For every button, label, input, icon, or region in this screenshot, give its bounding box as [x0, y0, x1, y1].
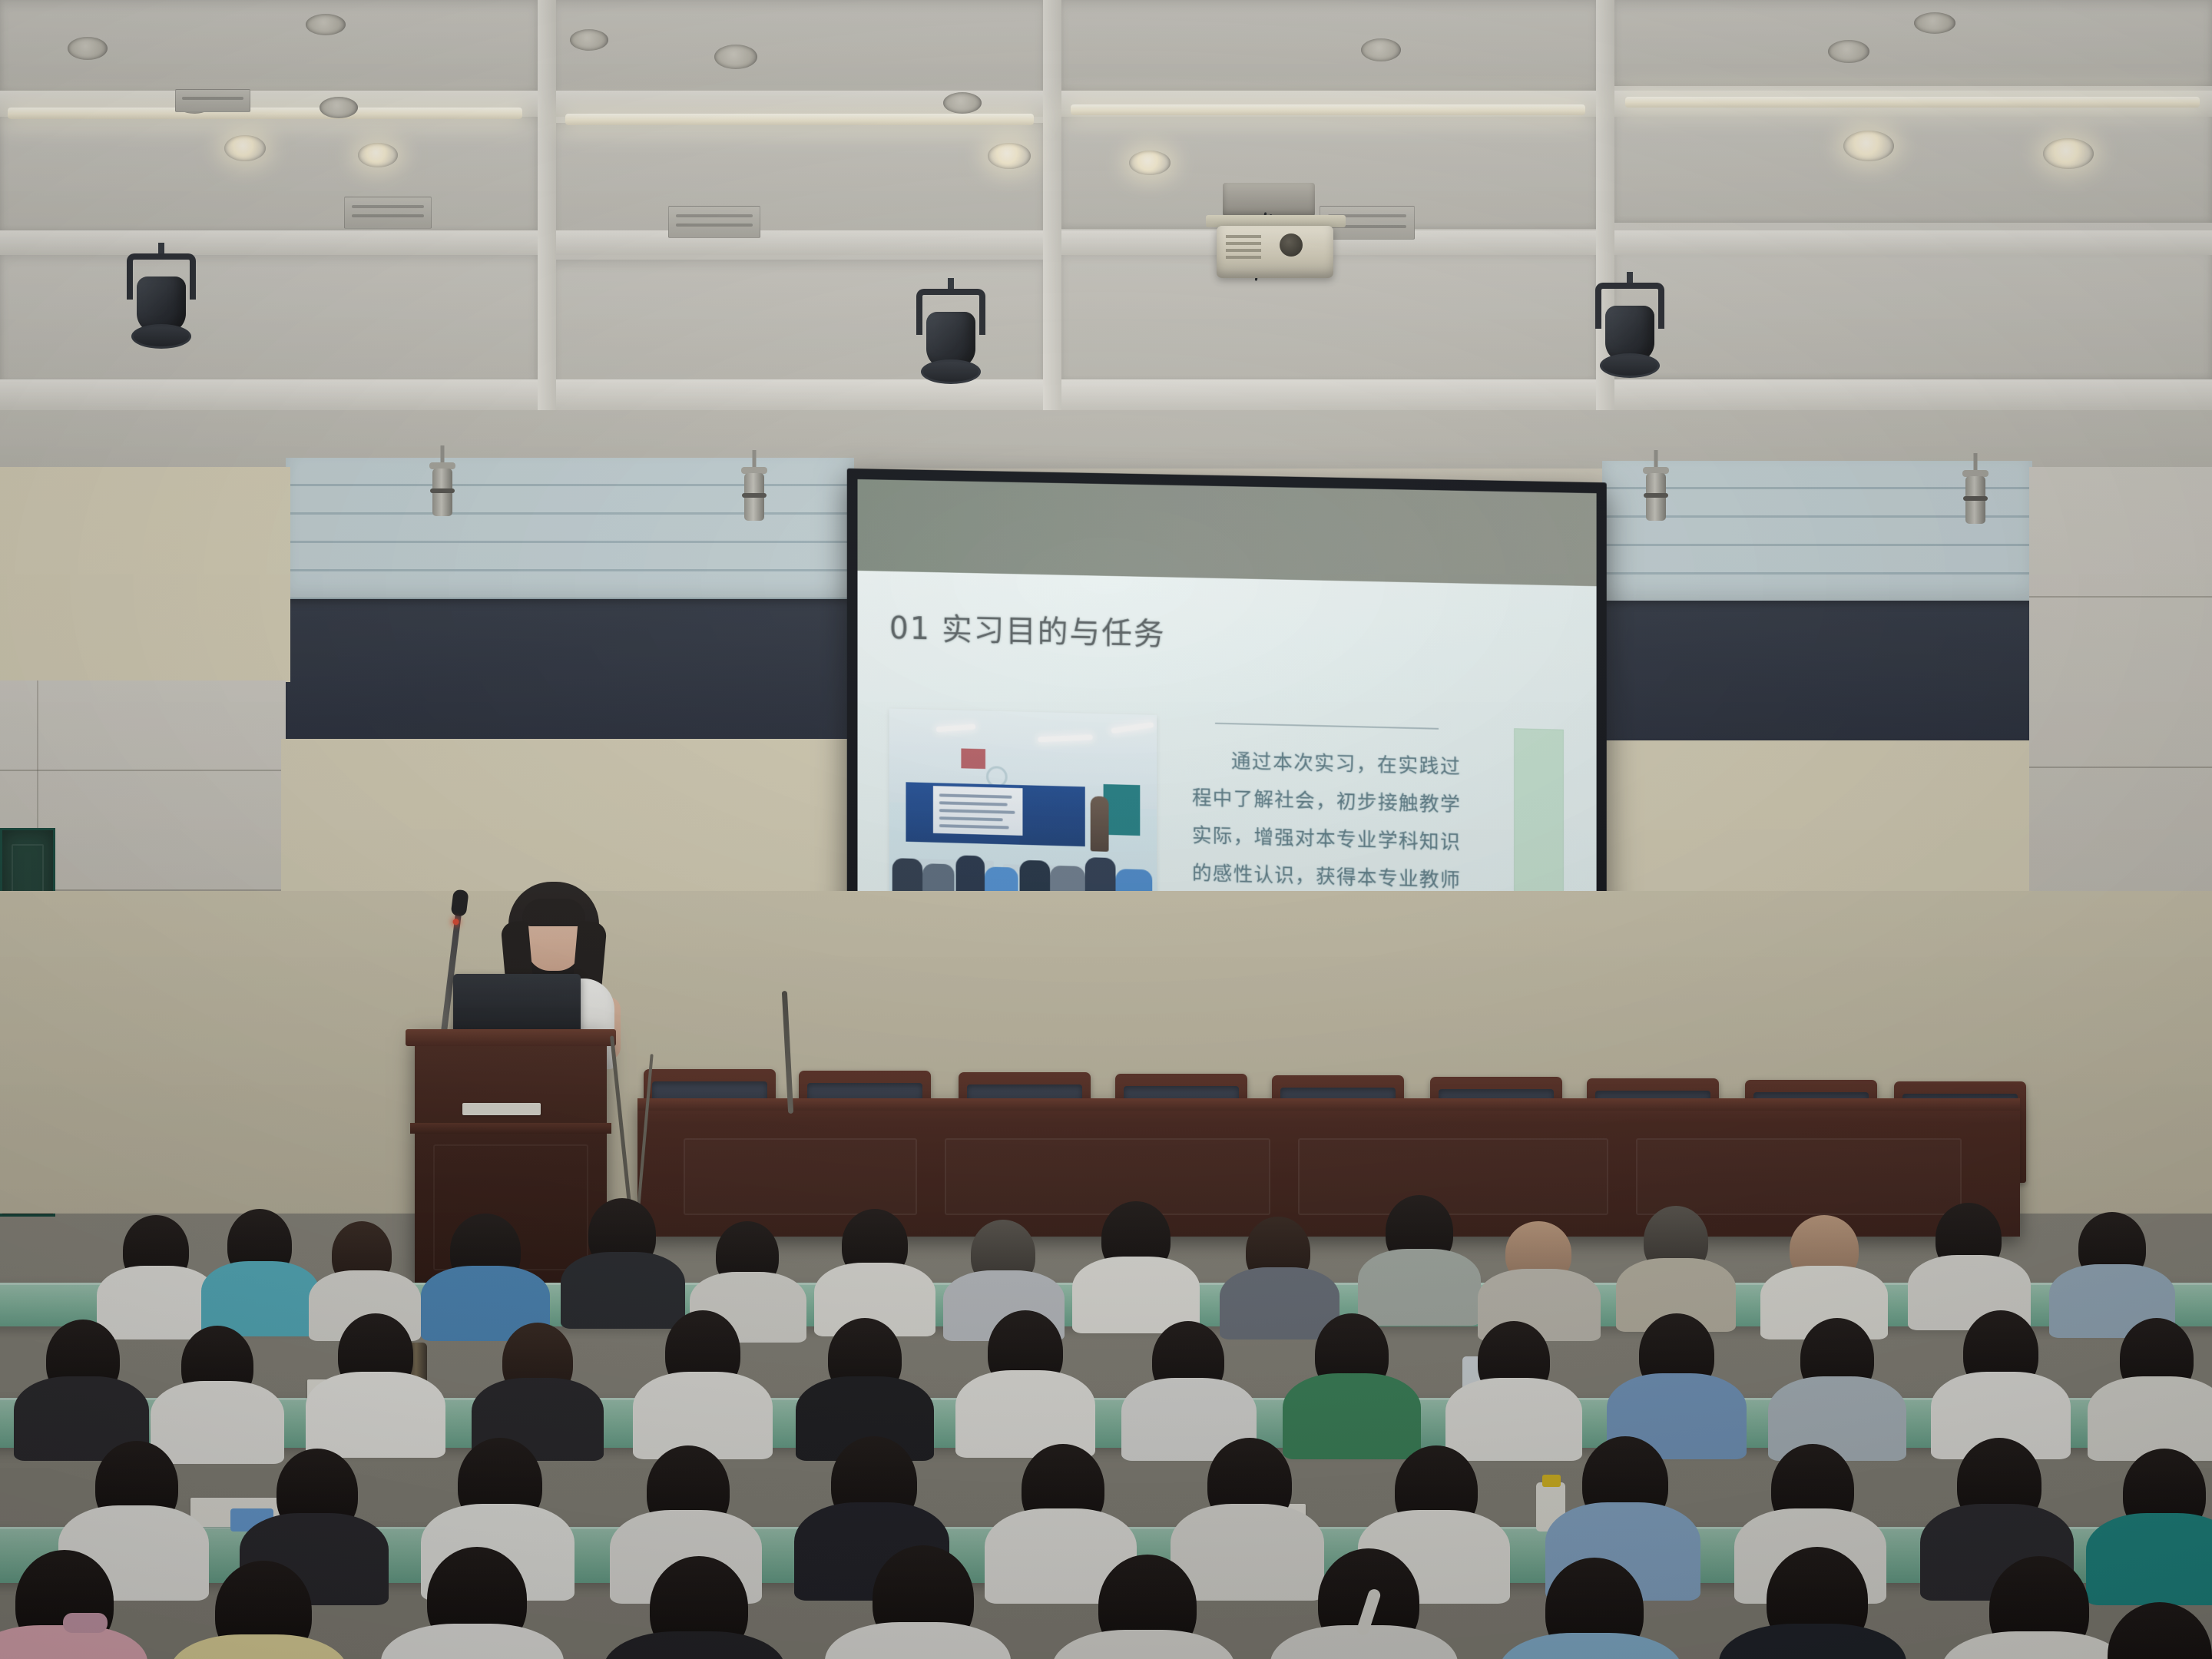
- cylinder-pendant-lamp: [739, 450, 770, 530]
- audience-area: [0, 1167, 2212, 1659]
- recessed-downlight: [68, 37, 108, 60]
- wall-navy-panel: [1596, 601, 2035, 743]
- ceiling-coffer: [553, 0, 1045, 98]
- recessed-downlight: [1129, 151, 1171, 175]
- recessed-downlight: [224, 135, 266, 161]
- audience-person: [1445, 1378, 1582, 1461]
- fluorescent-strip-light: [565, 114, 1034, 125]
- audience-person: [151, 1381, 284, 1464]
- ceiling-coffer: [1613, 0, 2212, 86]
- ceiling-beam: [0, 230, 2212, 255]
- wall-beige-panel: [0, 467, 290, 682]
- ceiling-beam: [1043, 0, 1061, 410]
- audience-head: [2108, 1602, 2212, 1659]
- slide-title: 01 实习目的与任务: [889, 604, 1166, 654]
- recessed-downlight: [570, 29, 608, 51]
- ceiling-coffer: [1060, 0, 1598, 91]
- stage-spotlight: [905, 289, 997, 389]
- recessed-downlight: [1914, 12, 1955, 34]
- ceiling-coffer: [0, 117, 538, 232]
- audience-person: [1768, 1376, 1906, 1461]
- ceiling-vent: [668, 206, 760, 238]
- audience-person: [1052, 1630, 1235, 1659]
- audience-person: [604, 1631, 785, 1659]
- audience-person: [171, 1634, 347, 1659]
- recessed-downlight: [1828, 40, 1869, 63]
- stage-spotlight: [115, 253, 207, 353]
- ceiling-projector: [1206, 183, 1352, 283]
- hair-accessory: [63, 1613, 108, 1633]
- audience-person: [306, 1372, 445, 1458]
- ceiling-vent: [175, 89, 250, 112]
- audience-person: [1171, 1504, 1324, 1601]
- audience-person: [2088, 1376, 2212, 1461]
- audience-person: [1719, 1624, 1906, 1659]
- ceiling-beam: [0, 379, 2212, 410]
- fluorescent-strip-light: [1625, 97, 2200, 108]
- slide-classroom-photo: [889, 708, 1157, 920]
- stage-spotlight: [1584, 283, 1676, 382]
- bottle-cap: [1542, 1475, 1561, 1487]
- presenter-laptop[interactable]: [453, 974, 581, 1035]
- ceiling-beam: [538, 0, 556, 410]
- audience-person: [1283, 1373, 1421, 1459]
- recessed-downlight: [358, 143, 398, 167]
- audience-person: [2086, 1513, 2212, 1605]
- recessed-downlight: [943, 92, 982, 114]
- audience-person: [1358, 1249, 1481, 1326]
- fluorescent-strip-light: [8, 108, 522, 119]
- ceiling-coffer: [0, 253, 538, 384]
- ceiling-coffer: [1613, 244, 2212, 379]
- ceiling-coffer: [553, 123, 1045, 238]
- cylinder-pendant-lamp: [1960, 453, 1991, 533]
- slide-divider-rule: [1215, 723, 1439, 730]
- recessed-downlight: [1361, 38, 1401, 61]
- audience-person: [381, 1624, 564, 1659]
- fluorescent-strip-light: [1071, 104, 1585, 115]
- ceiling-vent: [344, 197, 432, 229]
- audience-person: [1220, 1267, 1339, 1339]
- recessed-downlight: [714, 45, 757, 69]
- audience-person: [97, 1266, 217, 1339]
- ceiling-coffer: [1613, 108, 2212, 223]
- audience-person: [633, 1372, 773, 1459]
- audience-person: [1942, 1631, 2128, 1659]
- audience-person: [955, 1370, 1095, 1458]
- lecture-hall-photo: 01 实习目的与任务: [0, 0, 2212, 1659]
- cylinder-pendant-lamp: [1641, 450, 1671, 530]
- wall-navy-panel: [280, 599, 863, 743]
- recessed-downlight: [988, 143, 1031, 169]
- recessed-downlight: [1843, 131, 1894, 161]
- recessed-downlight: [2043, 138, 2094, 169]
- audience-person: [561, 1252, 685, 1329]
- cylinder-pendant-lamp: [427, 445, 458, 525]
- recessed-downlight: [306, 14, 346, 35]
- audience-person: [1499, 1633, 1682, 1659]
- audience-person: [825, 1622, 1011, 1659]
- slide-letterbox-top: [857, 479, 1596, 586]
- recessed-downlight: [320, 97, 358, 118]
